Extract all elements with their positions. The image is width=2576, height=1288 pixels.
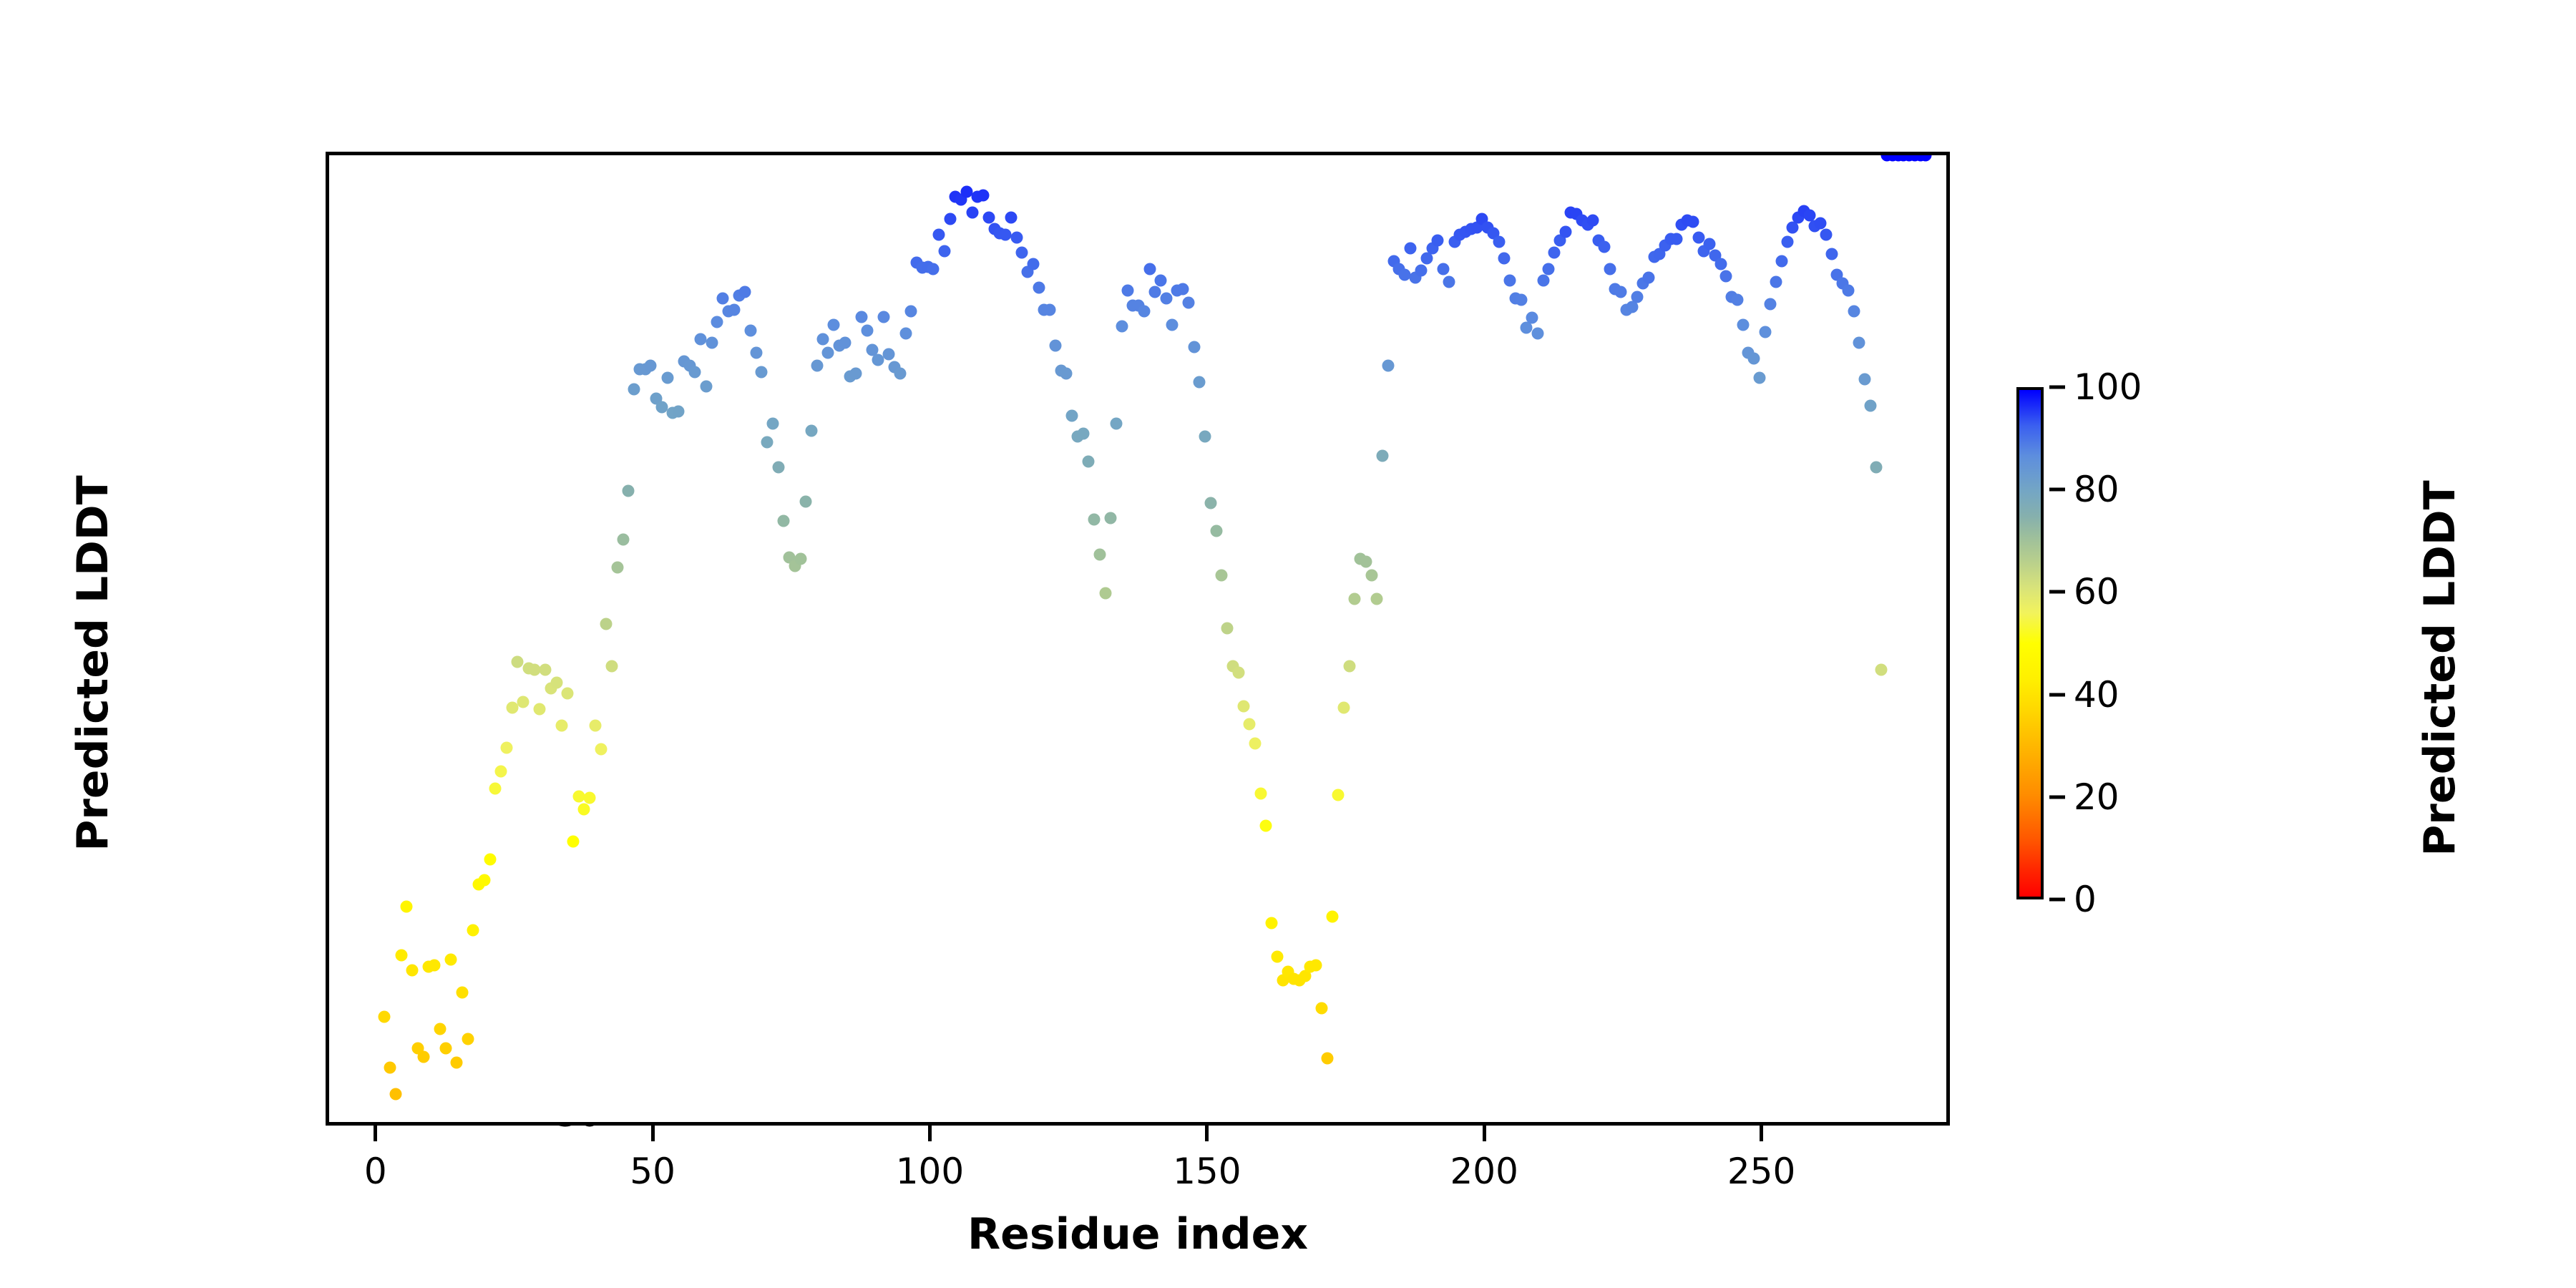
scatter-point: [445, 953, 457, 965]
scatter-point: [944, 213, 956, 225]
scatter-point: [689, 366, 701, 379]
scatter-point: [1781, 235, 1793, 248]
scatter-point: [540, 664, 552, 676]
scatter-point: [894, 368, 906, 380]
scatter-point: [439, 1043, 452, 1055]
scatter-point: [933, 228, 945, 240]
scatter-point: [1432, 234, 1444, 246]
scatter-point: [1720, 270, 1732, 283]
scatter-point: [661, 372, 673, 384]
scatter-point: [456, 987, 468, 999]
scatter-point: [744, 324, 756, 336]
scatter-point: [673, 405, 685, 417]
scatter-point: [506, 701, 518, 713]
scatter-point: [1155, 274, 1167, 286]
scatter-point: [711, 316, 723, 328]
scatter-point: [1759, 326, 1771, 338]
scatter-point: [899, 327, 912, 339]
scatter-point: [1088, 514, 1101, 526]
scatter-point: [517, 696, 530, 708]
scatter-point: [761, 436, 774, 448]
colorbar-title: Predicted LDDT: [2415, 346, 2465, 990]
scatter-point: [389, 1088, 401, 1101]
x-tick-mark: [1205, 1126, 1209, 1141]
scatter-point: [1111, 418, 1123, 430]
x-tick-label: 100: [896, 1151, 964, 1192]
x-tick-label: 250: [1727, 1151, 1795, 1192]
scatter-point: [1166, 319, 1178, 331]
scatter-point: [1604, 263, 1616, 275]
scatter-point: [739, 286, 751, 298]
scatter-point: [1121, 284, 1133, 296]
scatter-point: [550, 676, 562, 688]
scatter-point: [1049, 340, 1061, 352]
scatter-point: [1842, 284, 1854, 296]
plot-area: [326, 152, 1950, 1126]
colorbar-tick-label: 0: [2074, 879, 2097, 920]
scatter-point: [1859, 374, 1871, 386]
scatter-point: [611, 561, 623, 573]
scatter-point: [1587, 215, 1599, 227]
scatter-point: [816, 333, 829, 345]
colorbar-tick-mark: [2049, 488, 2065, 492]
scatter-point: [1093, 549, 1106, 561]
scatter-point: [1753, 372, 1765, 384]
colorbar-tick-label: 100: [2074, 366, 2142, 408]
colorbar-tick-mark: [2049, 693, 2065, 696]
scatter-point: [1149, 286, 1161, 298]
scatter-point: [706, 337, 718, 349]
scatter-point: [1371, 593, 1383, 605]
scatter-point: [1033, 281, 1045, 293]
scatter-point: [1249, 738, 1261, 750]
scatter-point: [478, 874, 490, 886]
scatter-point: [467, 924, 479, 936]
scatter-point: [1099, 587, 1111, 600]
colorbar-tick-label: 80: [2074, 469, 2119, 510]
scatter-point: [589, 720, 601, 732]
scatter-point: [1515, 294, 1527, 306]
scatter-point: [717, 293, 729, 305]
scatter-point: [623, 484, 635, 497]
scatter-point: [750, 347, 762, 359]
scatter-point: [617, 533, 629, 545]
colorbar-tick-mark: [2049, 386, 2065, 389]
scatter-point: [1820, 228, 1832, 240]
scatter-points-layer: [329, 155, 1946, 1122]
scatter-point: [1815, 218, 1827, 230]
scatter-point: [756, 366, 768, 379]
scatter-point: [1138, 305, 1150, 317]
y-axis-title: Predicted LDDT: [68, 306, 118, 1021]
scatter-point: [1775, 255, 1787, 267]
scatter-point: [584, 792, 596, 804]
scatter-point: [1310, 959, 1322, 971]
scatter-point: [877, 311, 889, 323]
scatter-point: [800, 496, 812, 508]
scatter-point: [1066, 409, 1078, 421]
scatter-plot-figure: 30405060708090 050100150200250 Residue i…: [0, 0, 2576, 1288]
scatter-point: [1010, 231, 1023, 243]
scatter-point: [556, 720, 568, 732]
scatter-point: [512, 655, 524, 668]
scatter-point: [1343, 660, 1355, 672]
x-tick-mark: [1483, 1126, 1486, 1141]
scatter-point: [1194, 376, 1206, 388]
scatter-point: [811, 359, 823, 371]
scatter-point: [1182, 297, 1194, 309]
scatter-point: [1848, 305, 1860, 317]
scatter-point: [700, 380, 712, 392]
scatter-point: [1537, 274, 1549, 286]
scatter-point: [1199, 430, 1211, 442]
scatter-point: [1875, 664, 1888, 676]
colorbar-tick-label: 20: [2074, 776, 2119, 818]
scatter-point: [1670, 233, 1682, 245]
scatter-point: [1382, 359, 1394, 371]
scatter-point: [872, 353, 884, 366]
scatter-point: [905, 305, 917, 317]
scatter-point: [794, 552, 806, 565]
scatter-point: [1254, 788, 1267, 800]
scatter-point: [1399, 269, 1411, 281]
scatter-point: [1770, 275, 1782, 288]
scatter-point: [1232, 667, 1244, 679]
scatter-point: [822, 347, 834, 359]
scatter-point: [379, 1010, 391, 1023]
scatter-point: [1177, 283, 1189, 295]
scatter-point: [1244, 718, 1256, 731]
colorbar-tick-label: 60: [2074, 571, 2119, 613]
scatter-point: [861, 324, 873, 336]
scatter-point: [927, 263, 940, 275]
scatter-point: [572, 791, 585, 803]
scatter-point: [977, 190, 990, 202]
scatter-point: [1438, 263, 1450, 275]
scatter-point: [695, 333, 707, 345]
scatter-point: [806, 424, 818, 436]
x-axis-title: Residue index: [326, 1209, 1950, 1259]
scatter-point: [417, 1050, 429, 1063]
scatter-point: [600, 618, 613, 630]
colorbar-tick-mark: [2049, 590, 2065, 594]
scatter-point: [1143, 263, 1156, 275]
scatter-point: [562, 688, 574, 700]
scatter-point: [1531, 327, 1543, 339]
scatter-point: [1443, 275, 1455, 288]
scatter-point: [1260, 820, 1272, 832]
colorbar-gradient: [2016, 387, 2044, 899]
scatter-point: [489, 782, 502, 794]
scatter-point: [1271, 950, 1283, 962]
scatter-point: [855, 311, 867, 323]
scatter-point: [1188, 341, 1200, 353]
scatter-point: [1548, 247, 1561, 259]
scatter-point: [839, 337, 851, 349]
scatter-point: [1349, 593, 1361, 605]
scatter-point: [1631, 291, 1644, 303]
scatter-point: [728, 303, 740, 316]
x-tick-mark: [374, 1126, 377, 1141]
scatter-point: [1116, 321, 1128, 333]
scatter-point: [1377, 449, 1389, 462]
scatter-point: [655, 401, 668, 413]
scatter-point: [606, 660, 618, 672]
scatter-point: [1327, 910, 1339, 922]
scatter-point: [883, 348, 895, 361]
scatter-point: [1714, 258, 1727, 270]
x-tick-label: 200: [1450, 1151, 1518, 1192]
scatter-point: [462, 1033, 474, 1045]
scatter-point: [1803, 209, 1815, 221]
scatter-point: [1105, 512, 1117, 525]
scatter-point: [1337, 701, 1350, 713]
scatter-point: [1360, 555, 1372, 567]
scatter-point: [1765, 298, 1777, 311]
scatter-point: [484, 853, 496, 865]
scatter-point: [645, 359, 657, 371]
scatter-point: [1692, 231, 1704, 243]
scatter-point: [1016, 247, 1028, 259]
scatter-point: [1160, 293, 1172, 305]
scatter-point: [1559, 225, 1571, 238]
scatter-point: [1498, 252, 1511, 264]
scatter-point: [451, 1056, 463, 1068]
scatter-point: [1825, 248, 1838, 260]
scatter-point: [578, 803, 590, 815]
scatter-point: [766, 418, 779, 430]
scatter-point: [1221, 623, 1234, 635]
scatter-point: [406, 965, 419, 977]
scatter-point: [1598, 241, 1610, 253]
scatter-point: [1404, 243, 1416, 255]
scatter-point: [434, 1023, 446, 1035]
scatter-point: [1216, 570, 1228, 582]
scatter-point: [495, 766, 507, 778]
colorbar-tick-mark: [2049, 898, 2065, 902]
x-tick-label: 50: [630, 1151, 675, 1192]
scatter-point: [1704, 238, 1716, 250]
scatter-point: [1615, 286, 1627, 298]
scatter-point: [628, 383, 640, 395]
scatter-point: [1687, 216, 1699, 228]
scatter-point: [1642, 272, 1654, 284]
scatter-point: [1077, 427, 1089, 439]
scatter-point: [1083, 455, 1095, 467]
x-tick-mark: [651, 1126, 655, 1141]
scatter-point: [384, 1062, 396, 1074]
scatter-point: [1060, 368, 1073, 380]
scatter-point: [1864, 399, 1876, 411]
scatter-point: [1493, 235, 1505, 248]
scatter-point: [772, 461, 784, 473]
scatter-point: [1365, 570, 1377, 582]
scatter-point: [1266, 917, 1278, 930]
scatter-point: [1000, 228, 1012, 240]
scatter-point: [850, 368, 862, 380]
scatter-point: [395, 949, 407, 961]
scatter-point: [401, 900, 413, 912]
x-tick-label: 0: [364, 1151, 387, 1192]
scatter-point: [1526, 312, 1538, 324]
scatter-point: [534, 703, 546, 715]
scatter-point: [1731, 294, 1743, 306]
colorbar-tick-mark: [2049, 795, 2065, 799]
scatter-point: [1315, 1002, 1327, 1014]
scatter-point: [778, 515, 790, 527]
x-tick-mark: [1760, 1126, 1763, 1141]
scatter-point: [1737, 319, 1749, 331]
scatter-point: [1415, 265, 1428, 277]
scatter-point: [1204, 497, 1216, 509]
scatter-point: [828, 319, 840, 331]
scatter-point: [1332, 789, 1345, 801]
scatter-point: [1853, 337, 1865, 349]
scatter-point: [1044, 303, 1056, 316]
scatter-point: [1870, 461, 1882, 473]
colorbar-tick-label: 40: [2074, 674, 2119, 716]
scatter-point: [966, 206, 978, 218]
scatter-point: [1027, 258, 1039, 270]
scatter-point: [960, 185, 972, 197]
scatter-point: [1321, 1052, 1333, 1064]
x-tick-mark: [928, 1126, 932, 1141]
scatter-point: [567, 835, 579, 847]
scatter-point: [1504, 274, 1516, 286]
scatter-point: [595, 743, 607, 756]
scatter-point: [528, 664, 540, 676]
scatter-point: [1210, 525, 1222, 537]
scatter-point: [1005, 212, 1017, 224]
scatter-point: [1748, 352, 1760, 364]
scatter-point: [500, 742, 512, 754]
x-tick-label: 150: [1173, 1151, 1241, 1192]
scatter-point: [1238, 700, 1250, 712]
scatter-point: [1543, 263, 1555, 275]
scatter-point: [429, 959, 441, 971]
scatter-point: [982, 212, 995, 224]
scatter-point: [938, 245, 950, 258]
